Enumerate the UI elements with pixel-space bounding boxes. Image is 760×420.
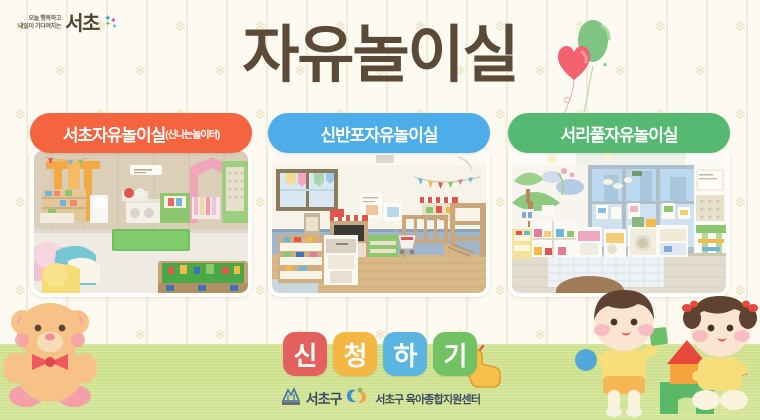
flower-motif-icon: ✻ <box>14 196 27 209</box>
room-card[interactable]: 신반포자유놀이실 <box>268 113 490 297</box>
apply-button[interactable]: 신 청 하 기 <box>0 332 760 376</box>
flower-motif-icon: ✻ <box>14 108 27 121</box>
room-card-label-main: 서리풀자유놀이실 <box>560 121 677 146</box>
room-card[interactable]: 서리풀자유놀이실 <box>508 113 730 297</box>
apply-tile[interactable]: 기 <box>433 332 477 376</box>
room-card-label[interactable]: 신반포자유놀이실 <box>268 113 490 153</box>
seocho-playroom-photo[interactable] <box>30 147 252 297</box>
flower-motif-icon: ✻ <box>254 108 267 121</box>
room-card-label[interactable]: 서초자유놀이실 (신나는놀이터) <box>30 113 252 153</box>
promo-poster: ✻✻✻✻✻✻✻✻✻✻✻✻✻✻✻✻✻✻✻✻✻✻✻✻✻✻✻✻✻✻✻✻✻✻✻✻✻✻✻✻… <box>0 0 760 420</box>
flower-motif-icon: ✻ <box>734 108 747 121</box>
flower-motif-icon: ✻ <box>254 284 267 297</box>
footer-center-name: 서초구 육아종합지원센터 <box>375 391 480 407</box>
room-card-label[interactable]: 서리풀자유놀이실 <box>508 113 730 153</box>
flower-motif-icon: ✻ <box>14 284 27 297</box>
page-title: 자유놀이실 <box>0 20 760 92</box>
room-card[interactable]: 서초자유놀이실 (신나는놀이터) <box>30 113 252 297</box>
flower-motif-icon: ✻ <box>494 284 507 297</box>
flower-motif-icon: ✻ <box>494 196 507 209</box>
footer-district-name: 서초구 <box>306 389 342 409</box>
flower-motif-icon: ✻ <box>254 196 267 209</box>
photo-image <box>512 151 726 293</box>
flower-motif-icon: ✻ <box>734 196 747 209</box>
childcare-center-logo-icon <box>345 387 371 410</box>
apply-tile[interactable]: 신 <box>283 332 327 376</box>
seoripul-playroom-photo[interactable] <box>508 147 730 297</box>
seocho-gu-emblem-icon <box>280 386 302 411</box>
sinbanpo-playroom-photo[interactable] <box>268 147 490 297</box>
room-card-label-main: 서초자유놀이실 <box>63 121 165 146</box>
photo-image <box>34 151 248 293</box>
room-card-label-sub: (신나는놀이터) <box>165 126 219 141</box>
balloons-decoration <box>536 14 646 124</box>
flower-motif-icon: ✻ <box>494 108 507 121</box>
photo-image <box>272 151 486 293</box>
room-card-label-main: 신반포자유놀이실 <box>320 121 437 146</box>
apply-tile[interactable]: 청 <box>333 332 377 376</box>
footer-branding: 서초구 서초구 육아종합지원센터 <box>0 386 760 411</box>
apply-tile[interactable]: 하 <box>383 332 427 376</box>
